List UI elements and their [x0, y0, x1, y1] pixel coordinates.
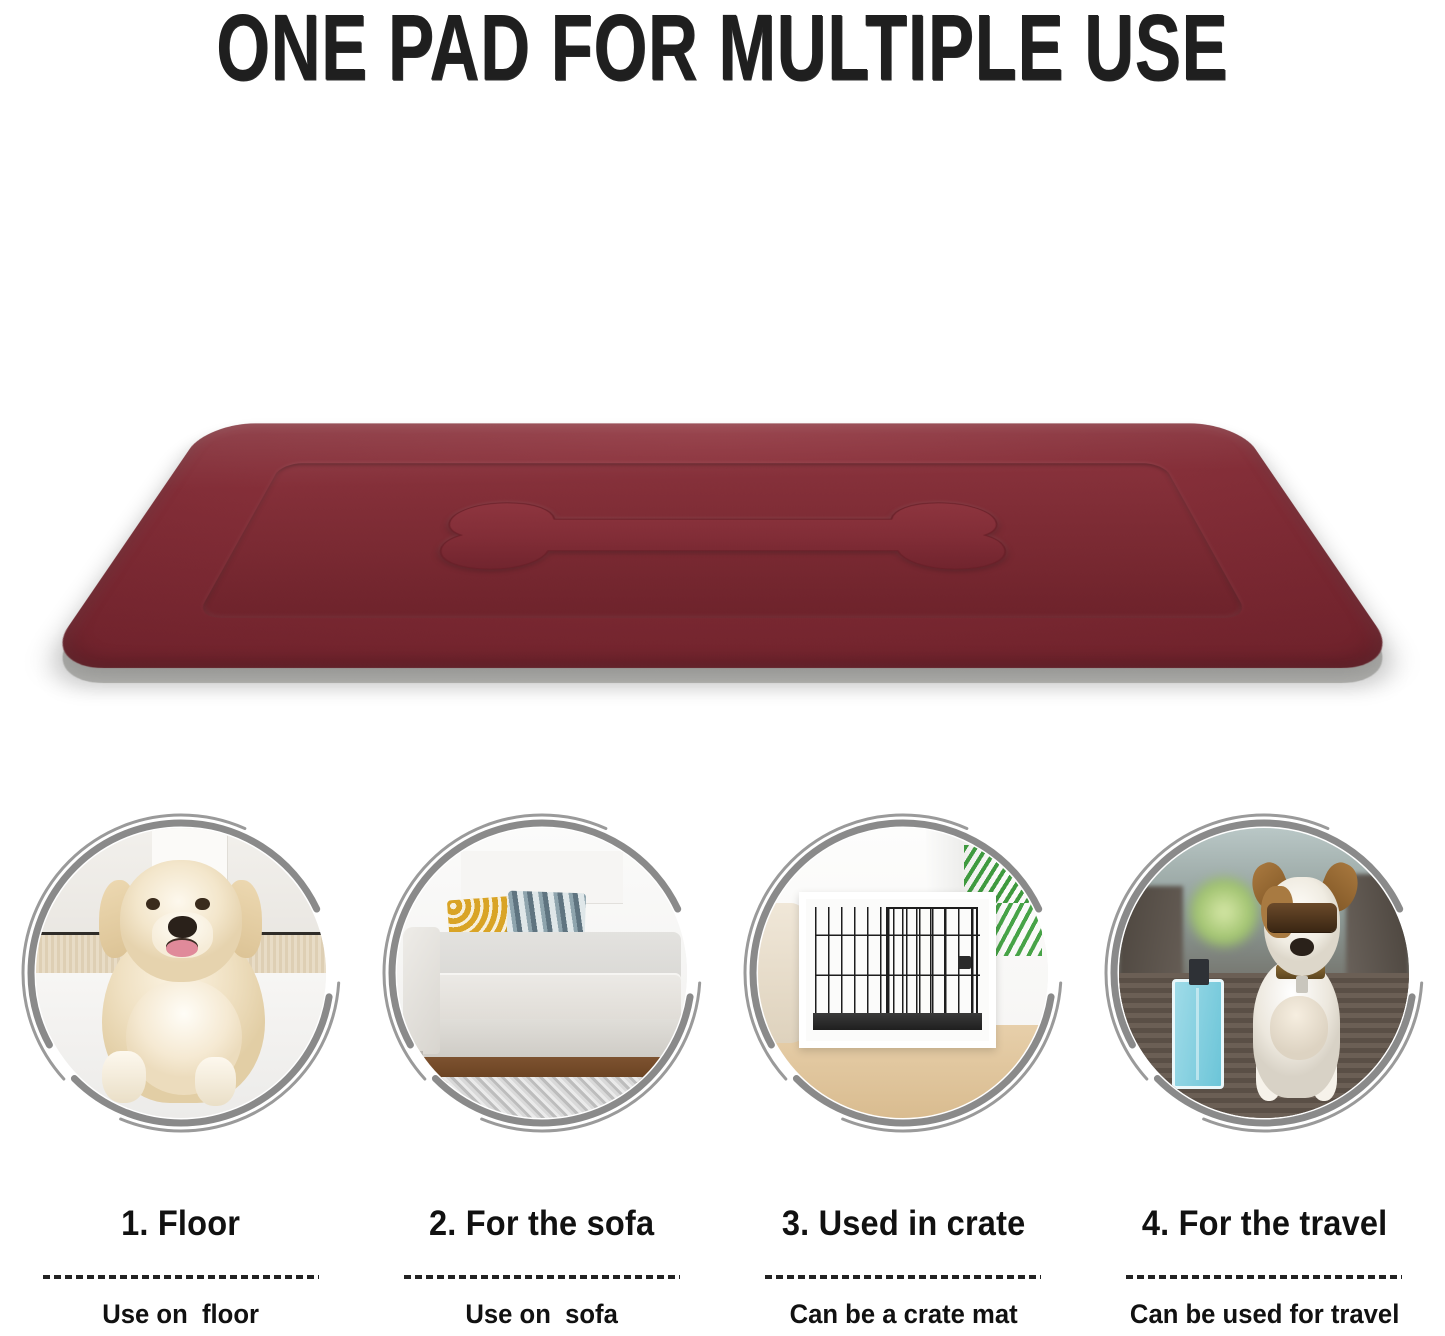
- page-title: ONE PAD FOR MULTIPLE USE: [216, 3, 1228, 92]
- use-case-3-divider: [765, 1275, 1041, 1279]
- photo-dog-crate: [758, 828, 1048, 1118]
- use-cases-row: 1. Floor Use on floor 2. For the sof: [0, 812, 1445, 1336]
- scene-dog-crate: [758, 828, 1048, 1118]
- pad-stage: [0, 150, 1445, 750]
- use-case-3-media: [742, 812, 1064, 1134]
- use-case-3-subtitle: Can be a crate mat: [732, 1299, 1075, 1330]
- photo-sofa: [397, 828, 687, 1118]
- use-case-3: 3. Used in crate Can be a crate mat: [723, 812, 1084, 1336]
- scene-travel-dog: [1119, 828, 1409, 1118]
- use-case-1-media: [20, 812, 342, 1134]
- use-case-3-title: 3. Used in crate: [735, 1204, 1071, 1244]
- bone-emboss-icon: [407, 494, 1038, 570]
- use-case-2-media: [381, 812, 703, 1134]
- use-case-2: 2. For the sofa Use on sofa: [361, 812, 722, 1336]
- use-case-1-title: 1. Floor: [13, 1204, 349, 1244]
- scene-dog-on-floor: [36, 828, 326, 1118]
- use-case-1-divider: [43, 1275, 319, 1279]
- use-case-4-subtitle: Can be used for travel: [1093, 1299, 1436, 1330]
- use-case-4-divider: [1126, 1275, 1402, 1279]
- use-case-2-divider: [404, 1275, 680, 1279]
- use-case-4: 4. For the travel Can be used for travel: [1084, 812, 1445, 1336]
- pad-inner-quilted-panel: [196, 463, 1249, 618]
- pad-top-surface: [40, 423, 1405, 668]
- use-case-2-subtitle: Use on sofa: [370, 1299, 713, 1330]
- use-case-1-subtitle: Use on floor: [9, 1299, 352, 1330]
- use-case-1: 1. Floor Use on floor: [0, 812, 361, 1336]
- hero-product-image: [0, 150, 1445, 750]
- headline-banner: ONE PAD FOR MULTIPLE USE: [0, 0, 1445, 96]
- photo-travel-dog: [1119, 828, 1409, 1118]
- use-case-4-title: 4. For the travel: [1096, 1204, 1432, 1244]
- use-case-4-media: [1103, 812, 1425, 1134]
- scene-sofa: [397, 828, 687, 1118]
- photo-dog-on-floor: [36, 828, 326, 1118]
- use-case-2-title: 2. For the sofa: [374, 1204, 710, 1244]
